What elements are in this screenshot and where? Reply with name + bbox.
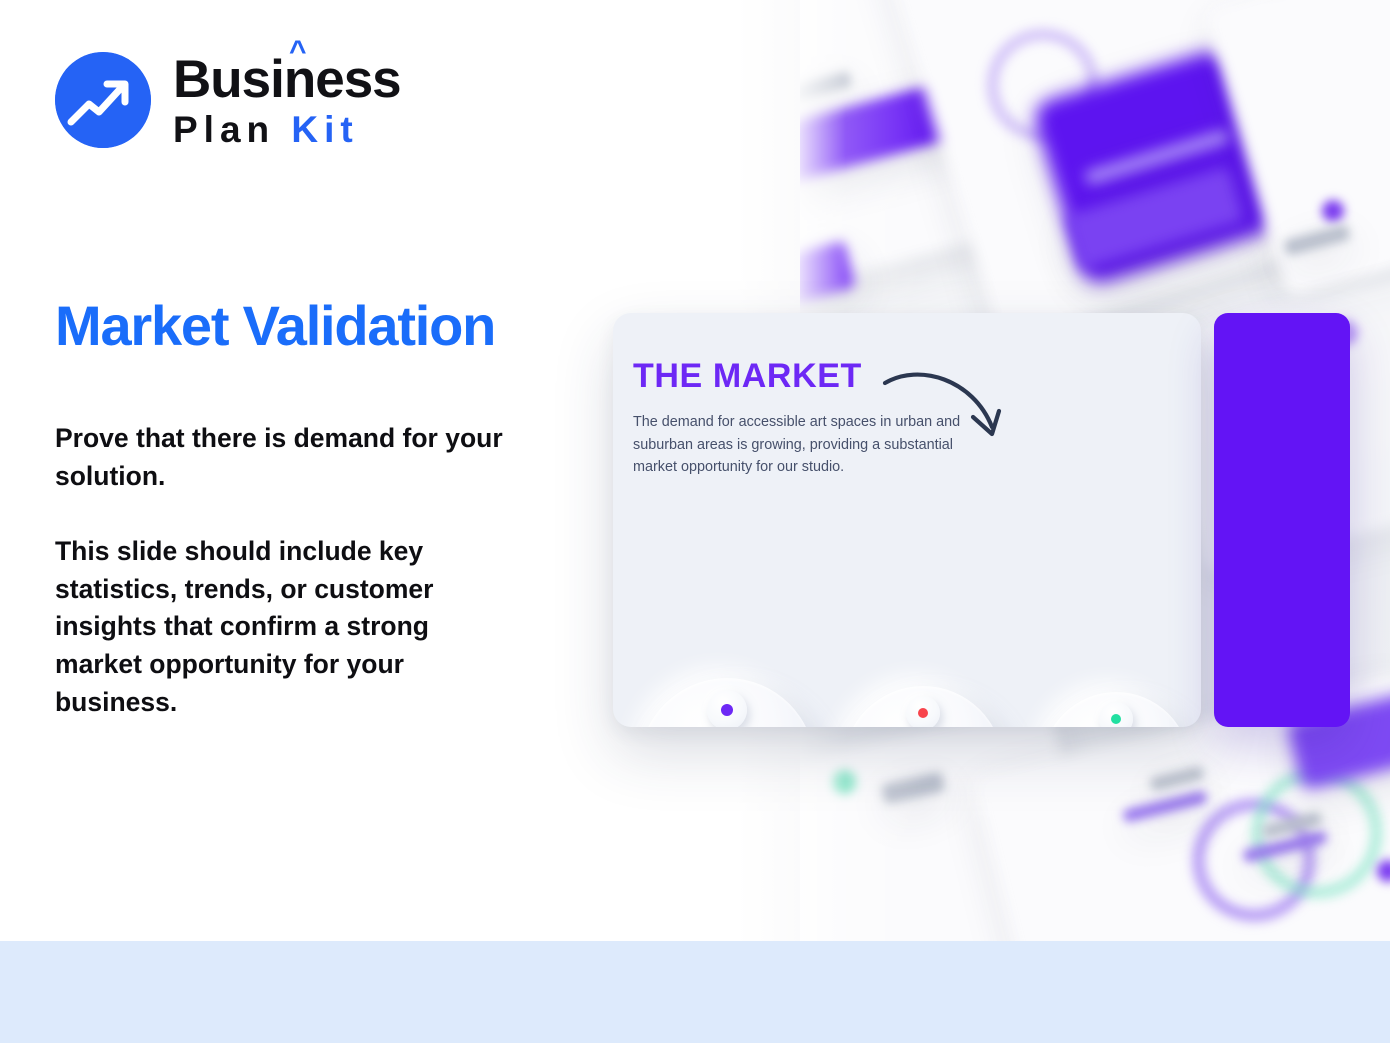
growth-chart-circle-icon — [55, 52, 151, 148]
metric-tam: $500,000,000 Total Addressable Market (T… — [634, 678, 820, 727]
metric-sam: $150,000,000 Serviceable Addressable Mar… — [830, 678, 1016, 727]
bottom-accent-band — [0, 941, 1390, 1043]
metric-knob-sam: $150,000,000 — [843, 686, 1003, 727]
caret-accent-icon: ^ — [289, 37, 306, 67]
slide-paragraph-secondary: This slide should include key statistics… — [55, 533, 515, 721]
page-title: Market Validation — [55, 296, 655, 355]
market-card-title: THE MARKET — [633, 357, 862, 396]
curved-down-right-arrow-icon — [881, 361, 1011, 456]
brand-name-business: Business — [173, 50, 401, 109]
slide-paragraph-primary: Prove that there is demand for your solu… — [55, 420, 575, 495]
brand-name-line-1: Business ^ — [173, 53, 401, 106]
brand-name-plan: Plan — [173, 109, 275, 150]
the-market-card: THE MARKET The demand for accessible art… — [613, 313, 1201, 727]
metric-knob-tam: $500,000,000 — [639, 678, 815, 727]
brand-logo: Business ^ Plan Kit — [55, 52, 401, 148]
metric-som: $50,000,000 Serviceable Obtainable Marke… — [1023, 678, 1201, 727]
brand-name-line-2: Plan Kit — [173, 111, 401, 148]
status-dot-purple-icon — [707, 690, 747, 727]
metric-knob-som: $50,000,000 — [1042, 692, 1190, 727]
brand-name-kit: Kit — [291, 109, 358, 150]
slide-canvas: Business ^ Plan Kit Market Validation Pr… — [0, 0, 1390, 1043]
status-dot-green-icon — [1099, 702, 1133, 727]
purple-accent-block — [1214, 313, 1350, 727]
market-metrics-group: $500,000,000 Total Addressable Market (T… — [613, 493, 1201, 693]
status-dot-red-icon — [906, 696, 940, 727]
